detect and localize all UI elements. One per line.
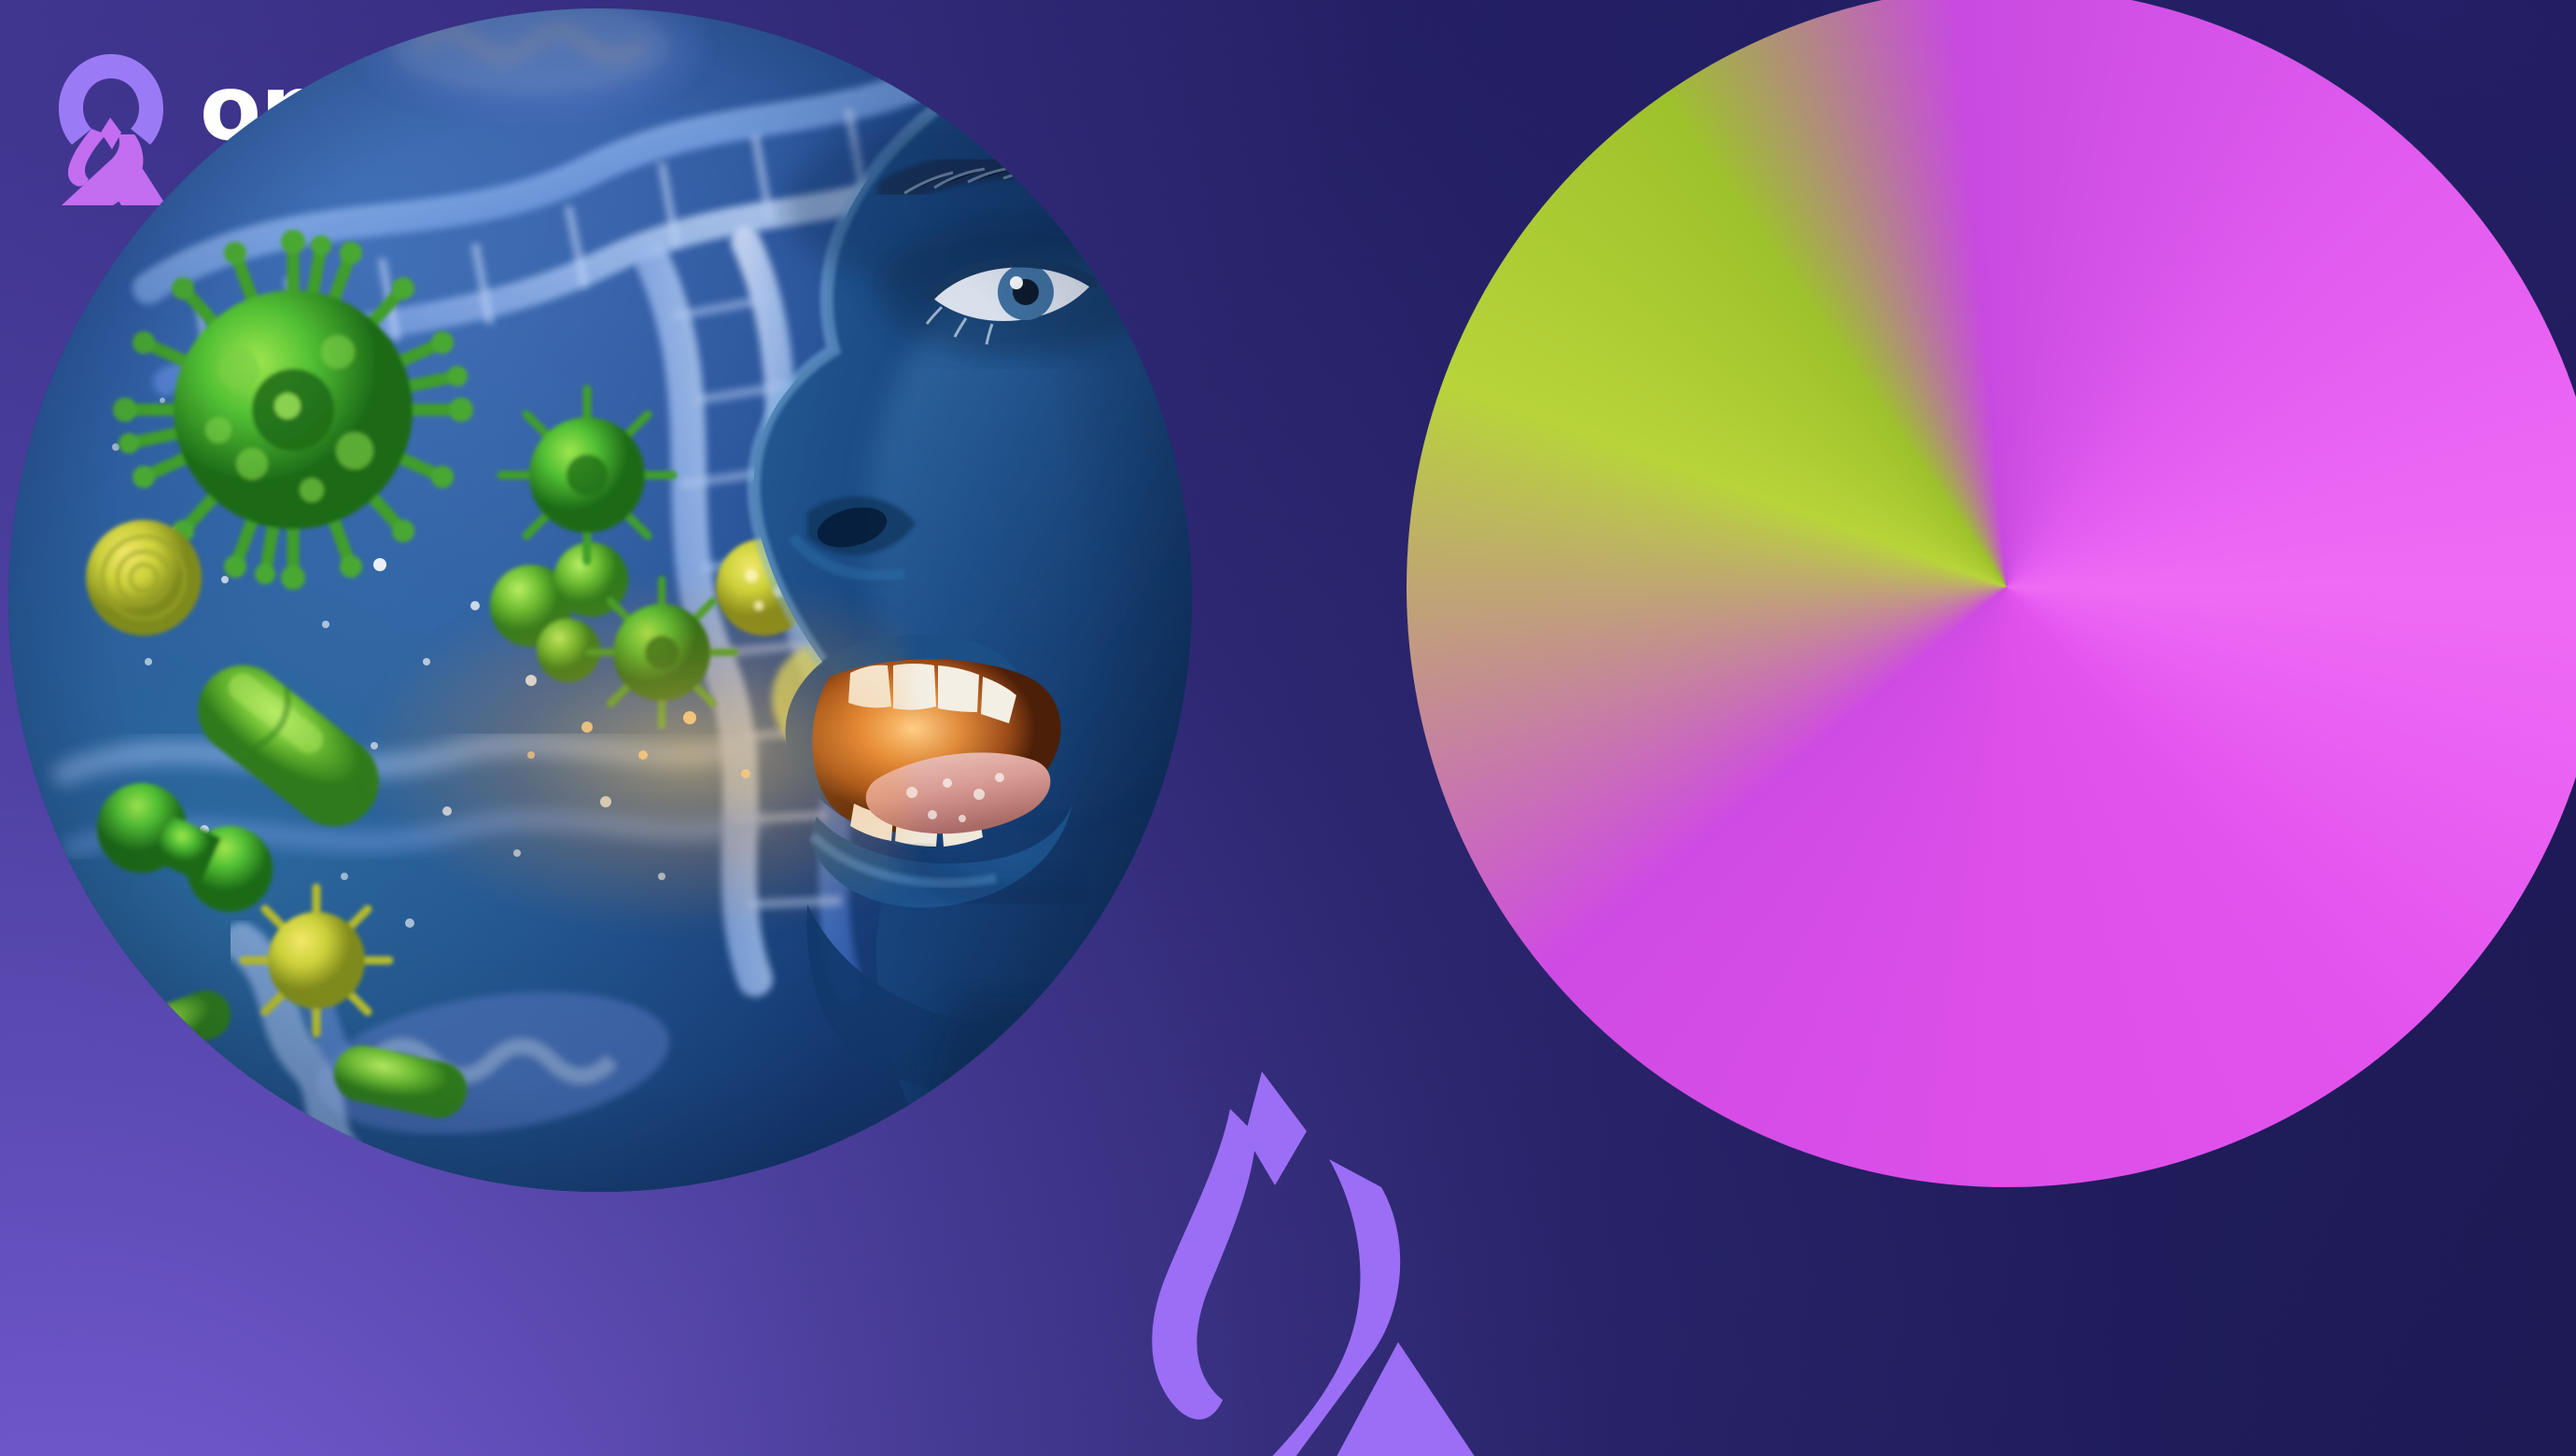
hero-image-circle (8, 8, 1192, 1192)
hero-image-ring (1407, 0, 2576, 1187)
image-vignette (8, 8, 1192, 1192)
slide-canvas: oncare CANCER CARE CENTRE How to Check f… (0, 0, 2576, 1456)
